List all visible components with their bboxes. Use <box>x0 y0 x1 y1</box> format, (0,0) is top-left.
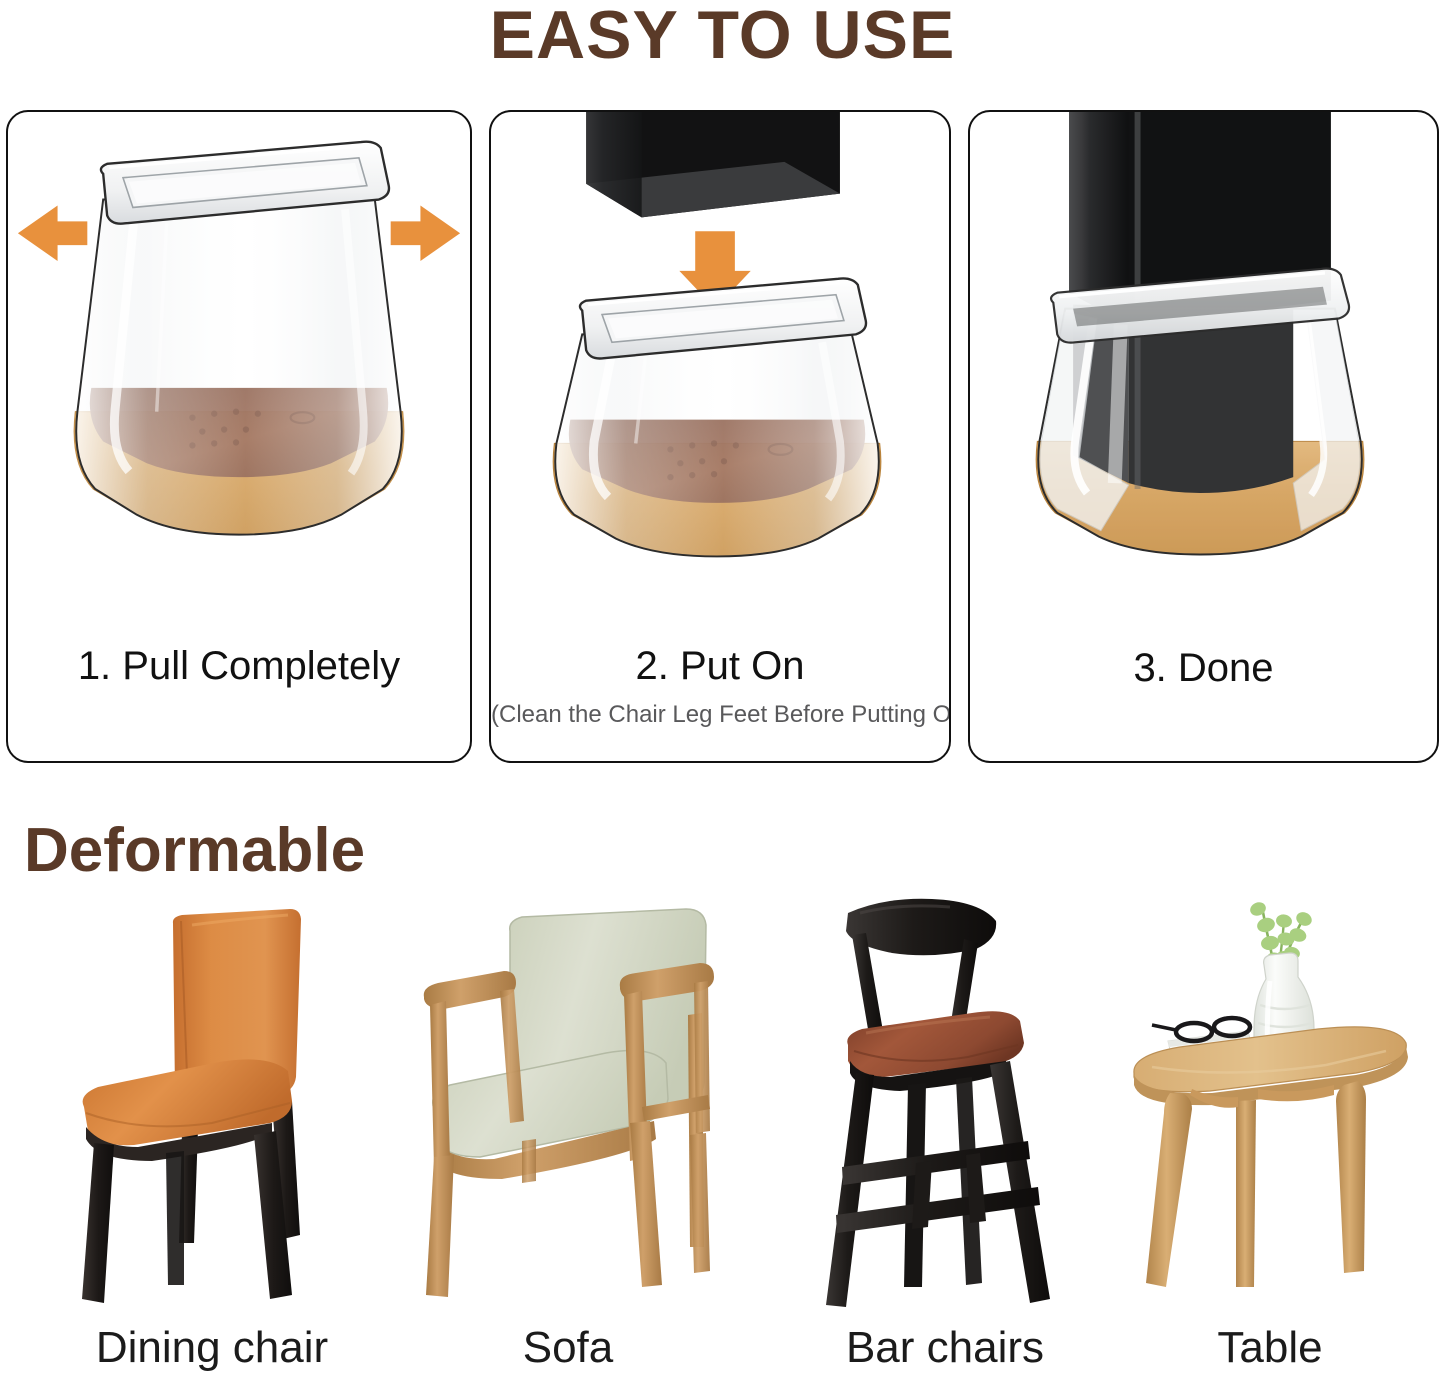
step-3-illustration <box>970 112 1437 642</box>
step-1-caption: 1. Pull Completely <box>8 643 470 689</box>
step-2-subcaption: (Clean the Chair Leg Feet Before Putting… <box>491 701 949 729</box>
furniture-row <box>0 895 1445 1315</box>
furniture-label-dining-chair: Dining chair <box>52 1318 372 1378</box>
arrow-left-icon <box>18 205 87 261</box>
section-title-deformable: Deformable <box>24 815 365 887</box>
furniture-label-bar-chairs: Bar chairs <box>790 1318 1100 1378</box>
furniture-sofa-illustration <box>398 895 738 1315</box>
step-panel-1: 1. Pull Completely <box>6 110 472 763</box>
furniture-bar-chair-illustration <box>800 895 1090 1315</box>
step-panel-3: 3. Done <box>968 110 1439 763</box>
step-2-illustration <box>491 112 949 642</box>
furniture-leg-shape <box>586 112 840 217</box>
furniture-table-illustration <box>1118 895 1428 1315</box>
furniture-labels: Dining chair Sofa Bar chairs Table <box>0 1318 1445 1390</box>
furniture-dining-chair-illustration <box>42 895 372 1315</box>
page-title-easy-to-use: EASY TO USE <box>0 0 1445 74</box>
step-panel-2: 2. Put On (Clean the Chair Leg Feet Befo… <box>489 110 951 763</box>
arrow-right-icon <box>391 205 460 261</box>
step-1-illustration <box>8 112 470 642</box>
furniture-label-table: Table <box>1120 1318 1420 1378</box>
step-3-caption: 3. Done <box>970 645 1437 691</box>
step-2-caption: 2. Put On <box>491 643 949 689</box>
furniture-label-sofa: Sofa <box>418 1318 718 1378</box>
